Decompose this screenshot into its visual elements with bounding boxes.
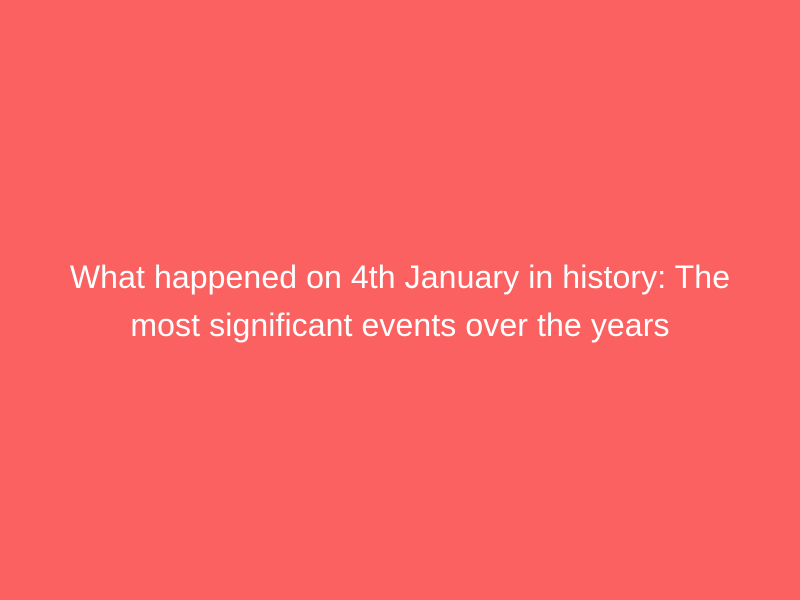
page-title: What happened on 4th January in history:… xyxy=(50,253,750,349)
title-card: What happened on 4th January in history:… xyxy=(0,0,800,600)
headline-block: What happened on 4th January in history:… xyxy=(50,253,750,349)
